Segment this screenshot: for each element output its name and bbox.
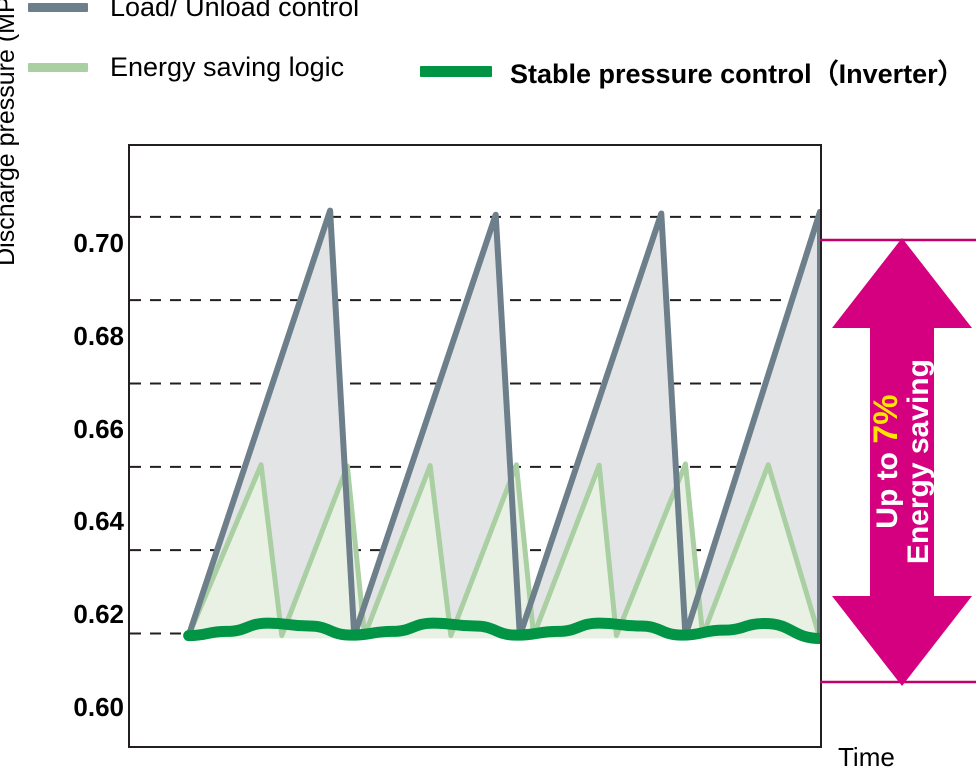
y-tick-066: 0.66: [4, 414, 124, 445]
plot-area: [128, 144, 822, 748]
legend-swatch-load-unload: [28, 3, 88, 12]
energy-saving-arrow: [828, 236, 976, 688]
legend-label-energy-saving-logic: Energy saving logic: [110, 52, 344, 83]
chart-legend: Load/ Unload control Energy saving logic…: [0, 0, 976, 110]
chart-page: Load/ Unload control Energy saving logic…: [0, 0, 976, 778]
x-axis-title: Time: [838, 742, 895, 773]
legend-label-stable-pressure: Stable pressure control（Inverter）: [510, 52, 965, 91]
chart-svg: [130, 146, 820, 746]
legend-item-load-unload: Load/ Unload control: [28, 0, 359, 23]
double-arrow-shape: [832, 238, 972, 686]
y-axis-tick-labels: 0.70 0.68 0.66 0.64 0.62 0.60: [0, 144, 124, 748]
y-tick-060: 0.60: [4, 692, 124, 723]
y-tick-068: 0.68: [4, 321, 124, 352]
y-tick-070: 0.70: [4, 228, 124, 259]
legend-label-load-unload: Load/ Unload control: [110, 0, 359, 23]
legend-item-energy-saving-logic: Energy saving logic: [28, 52, 344, 83]
legend-swatch-energy-saving-logic: [28, 63, 88, 72]
legend-swatch-stable-pressure: [420, 66, 492, 77]
y-tick-064: 0.64: [4, 506, 124, 537]
y-tick-062: 0.62: [4, 599, 124, 630]
legend-item-stable-pressure: Stable pressure control（Inverter）: [420, 52, 965, 91]
